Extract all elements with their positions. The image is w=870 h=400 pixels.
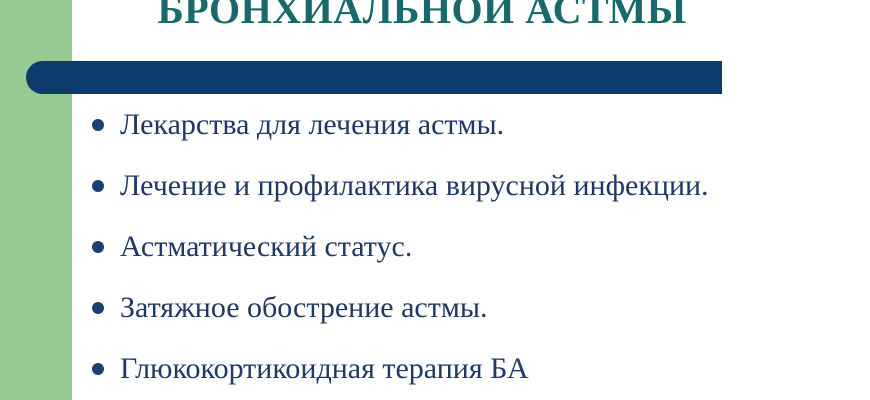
list-item: Затяжное обострение астмы. — [88, 287, 828, 328]
list-item-label: Затяжное обострение астмы. — [120, 287, 720, 328]
bullet-dot-icon — [92, 363, 104, 375]
list-item-label: Лекарства для лечения астмы. — [120, 104, 720, 145]
slide-title: БРОНХИАЛЬНОЙ АСТМЫ — [72, 0, 772, 33]
list-item-label: Астматический статус. — [120, 226, 720, 267]
presentation-slide: БРОНХИАЛЬНОЙ АСТМЫ Лекарства для лечения… — [0, 0, 870, 400]
left-green-accent-band — [0, 0, 72, 400]
list-item-label: Лечение и профилактика вирусной инфекции… — [120, 165, 720, 206]
list-item: Лекарства для лечения астмы. — [88, 104, 828, 145]
bullet-list: Лекарства для лечения астмы. Лечение и п… — [88, 104, 828, 389]
bullet-dot-icon — [92, 302, 104, 314]
bullet-dot-icon — [92, 180, 104, 192]
list-item: Лечение и профилактика вирусной инфекции… — [88, 165, 828, 206]
title-divider-bar — [26, 61, 722, 94]
bullet-dot-icon — [92, 119, 104, 131]
list-item-label: Глюкокортикоидная терапия БА — [120, 348, 720, 389]
list-item: Астматический статус. — [88, 226, 828, 267]
bullet-dot-icon — [92, 241, 104, 253]
list-item: Глюкокортикоидная терапия БА — [88, 348, 828, 389]
